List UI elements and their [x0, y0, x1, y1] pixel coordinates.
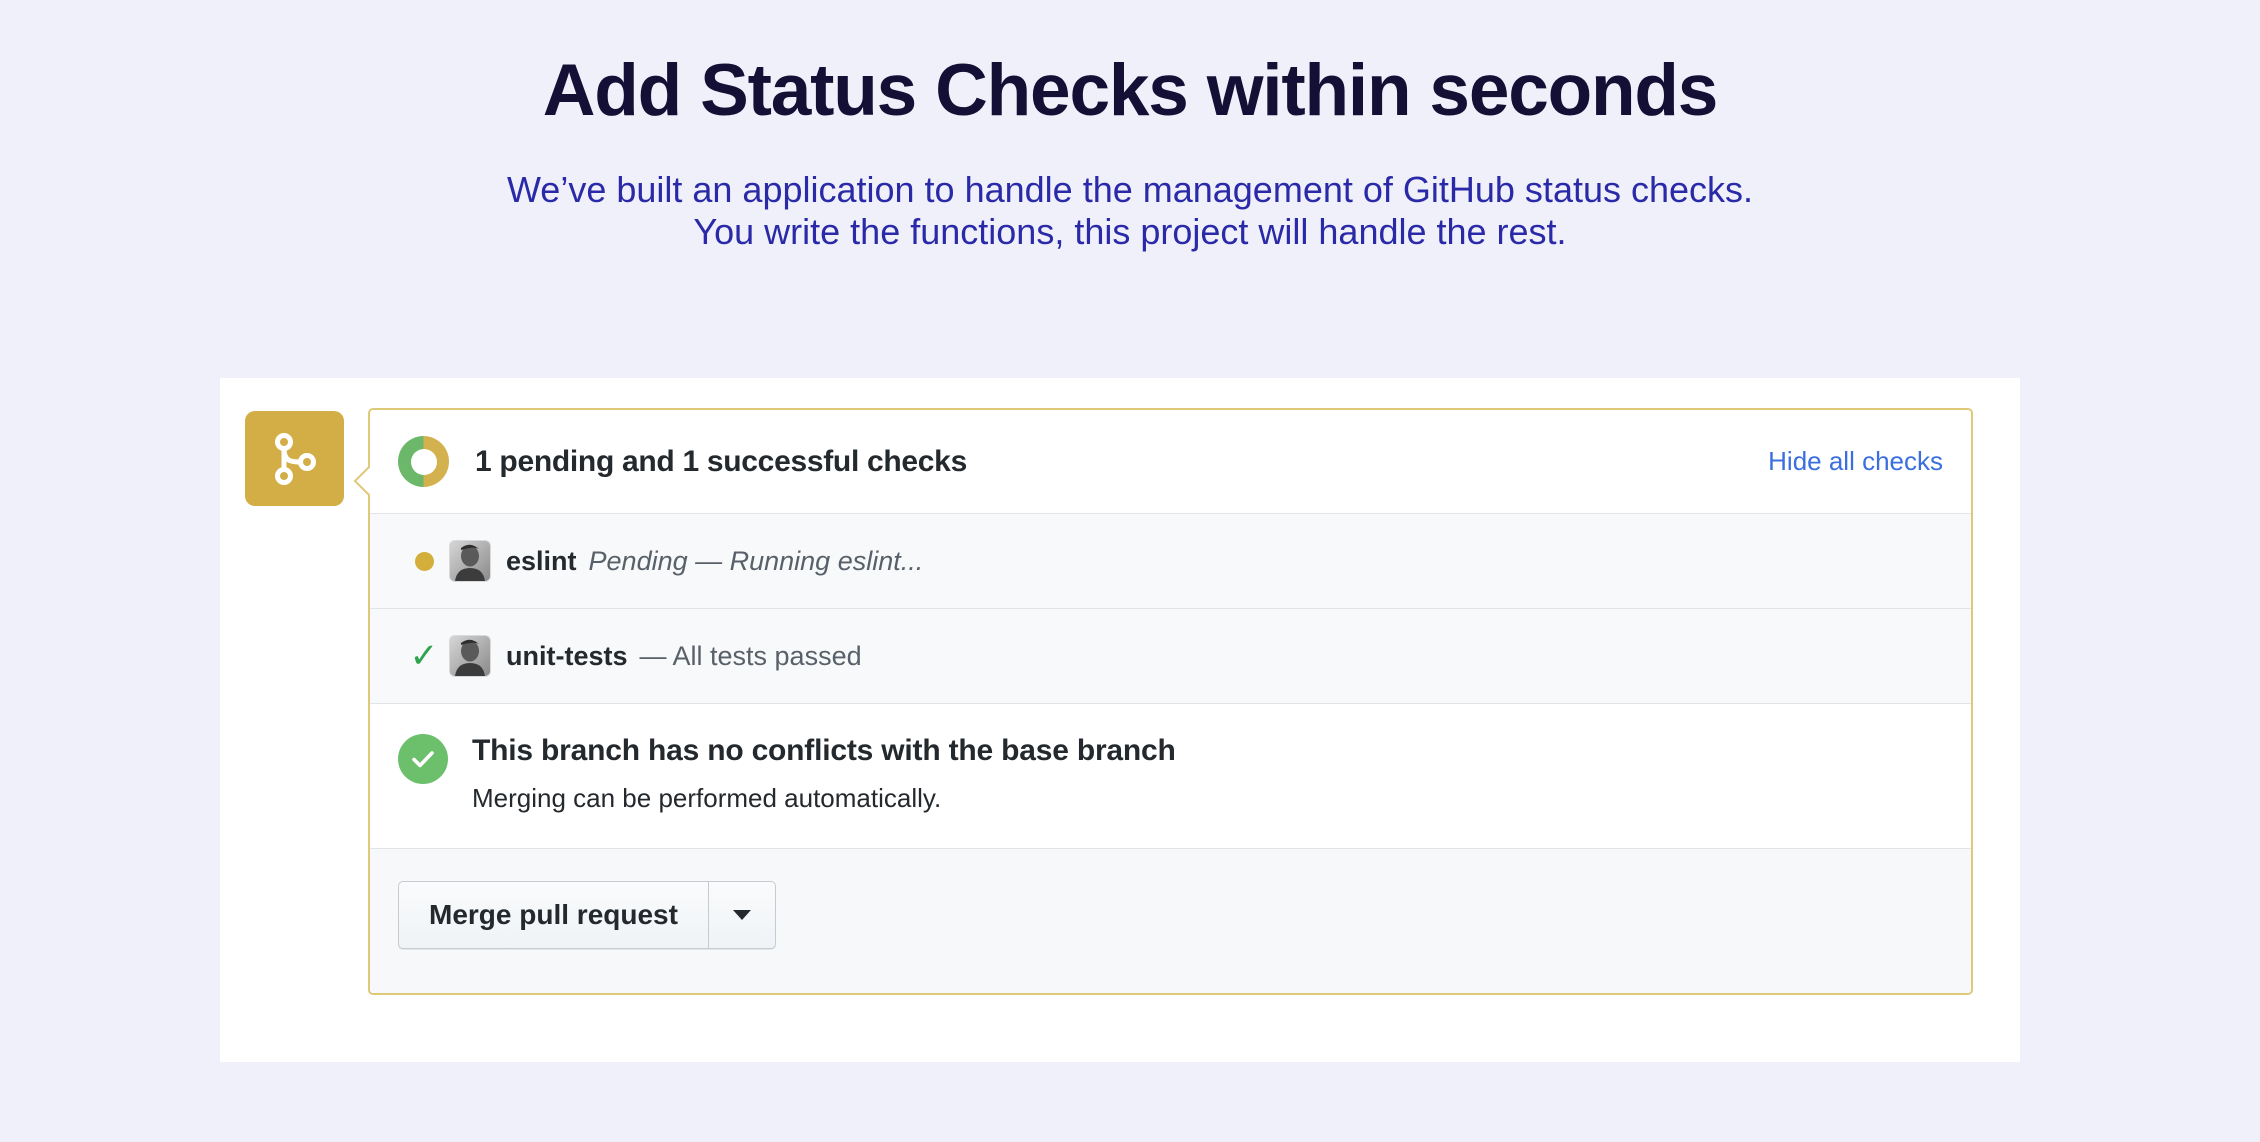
pending-dot-icon	[415, 552, 434, 571]
hero-subtitle-line-2: You write the functions, this project wi…	[0, 211, 2260, 253]
hero-subtitle-line-1: We’ve built an application to handle the…	[0, 169, 2260, 211]
hide-all-checks-link[interactable]: Hide all checks	[1768, 446, 1943, 477]
screenshot-panel: 1 pending and 1 successful checks Hide a…	[220, 378, 2020, 1062]
card-notch-arrow	[353, 464, 370, 498]
merge-status-title: This branch has no conflicts with the ba…	[472, 732, 1176, 770]
merge-status-text: This branch has no conflicts with the ba…	[472, 732, 1176, 814]
check-name: eslint	[506, 546, 577, 577]
merge-options-dropdown-button[interactable]	[708, 882, 775, 948]
pending-donut-icon	[398, 436, 449, 487]
checks-header: 1 pending and 1 successful checks Hide a…	[370, 410, 1971, 513]
check-name: unit-tests	[506, 641, 628, 672]
check-status-cell: ✓	[398, 639, 450, 673]
check-description: Pending — Running eslint...	[589, 546, 924, 577]
hero-subtitle: We’ve built an application to handle the…	[0, 169, 2260, 254]
checks-summary-title: 1 pending and 1 successful checks	[475, 445, 967, 479]
merge-pull-request-button[interactable]: Merge pull request	[399, 882, 708, 948]
avatar	[450, 541, 490, 581]
avatar	[450, 636, 490, 676]
check-row[interactable]: ✓	[370, 608, 1971, 703]
page-root: Add Status Checks within seconds We’ve b…	[0, 0, 2260, 1142]
merge-status-section: This branch has no conflicts with the ba…	[370, 703, 1971, 848]
page-title: Add Status Checks within seconds	[0, 52, 2260, 131]
merge-status-subtitle: Merging can be performed automatically.	[472, 782, 1176, 815]
pull-request-card: 1 pending and 1 successful checks Hide a…	[368, 408, 1973, 995]
hero-section: Add Status Checks within seconds We’ve b…	[0, 0, 2260, 254]
git-merge-icon	[273, 433, 317, 485]
check-row[interactable]: eslint Pending — Running eslint...	[370, 513, 1971, 608]
chevron-down-icon	[733, 910, 751, 920]
check-mark-icon: ✓	[410, 639, 439, 673]
check-description: — All tests passed	[640, 641, 862, 672]
merge-button-group: Merge pull request	[398, 881, 776, 949]
success-check-circle-icon	[398, 734, 448, 784]
merge-actions-footer: Merge pull request	[370, 848, 1971, 993]
git-merge-badge	[245, 411, 344, 506]
check-status-cell	[398, 552, 450, 571]
